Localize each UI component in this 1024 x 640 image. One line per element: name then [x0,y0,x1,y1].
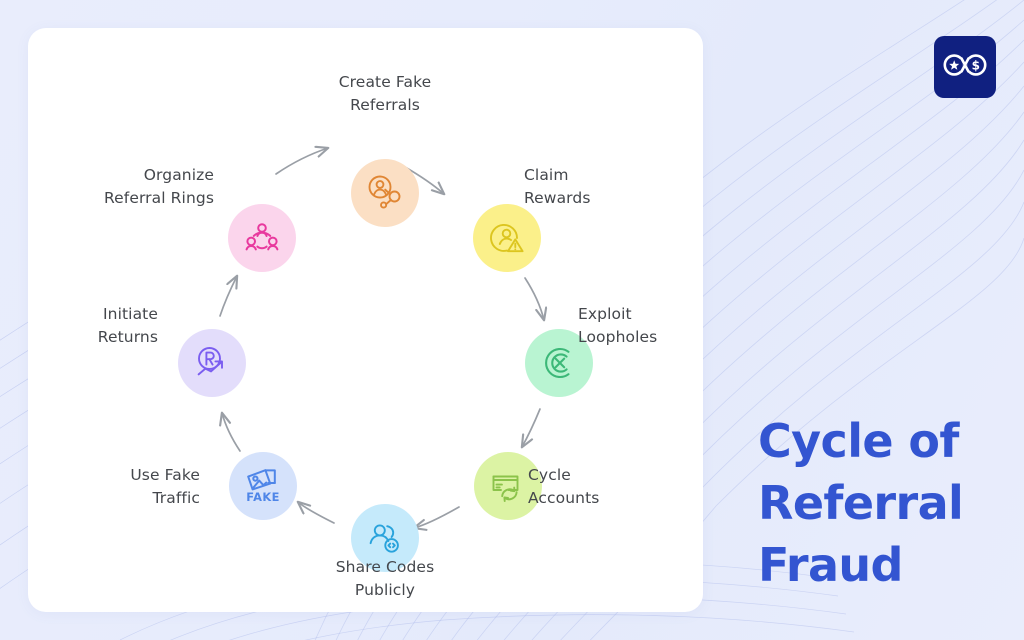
label-cycle-accounts: Cycle Accounts [528,464,698,509]
label-share-codes-publicly: Share Codes Publicly [275,556,495,601]
user-warning-icon [487,218,527,258]
node-initiate-returns[interactable] [178,329,246,397]
svg-text:FAKE: FAKE [246,490,280,504]
cycle-diagram: Create Fake Referrals Claim Rewards [28,28,703,612]
return-growth-icon [192,343,232,383]
broken-circle-x-icon [539,343,579,383]
node-use-fake-traffic[interactable]: FAKE [229,452,297,520]
label-organize-referral-rings: Organize Referral Rings [18,164,214,209]
card-refresh-icon [488,466,528,506]
node-organize-referral-rings[interactable] [228,204,296,272]
label-create-fake-referrals: Create Fake Referrals [285,71,485,116]
label-claim-rewards: Claim Rewards [524,164,694,209]
node-create-fake-referrals[interactable] [351,159,419,227]
brand-logo[interactable]: $ [934,36,996,98]
node-claim-rewards[interactable] [473,204,541,272]
infinity-star-dollar-icon: $ [942,50,988,84]
svg-text:$: $ [972,58,980,72]
page-title: Cycle of Referral Fraud [758,410,1008,596]
infographic-canvas: Create Fake Referrals Claim Rewards [0,0,1024,640]
fake-image-icon: FAKE [241,464,285,508]
label-use-fake-traffic: Use Fake Traffic [38,464,200,509]
label-exploit-loopholes: Exploit Loopholes [578,303,758,348]
people-ring-icon [242,218,282,258]
user-network-icon [365,173,405,213]
label-initiate-returns: Initiate Returns [8,303,158,348]
users-code-icon [365,518,405,558]
